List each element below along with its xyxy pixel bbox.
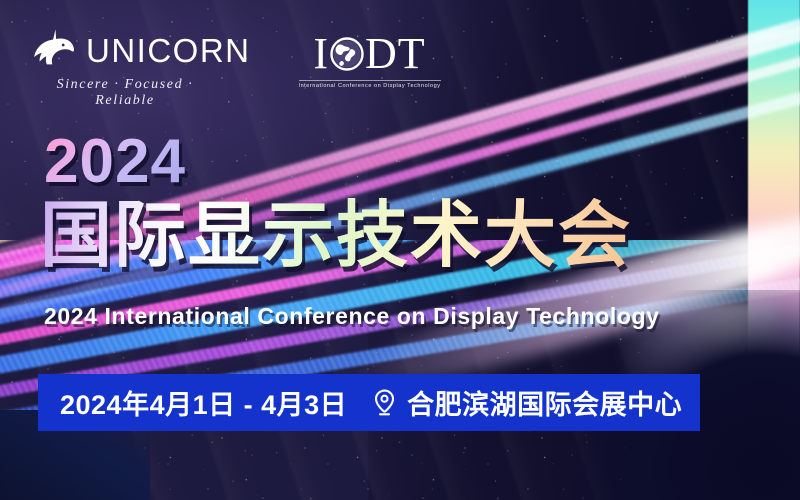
unicorn-tagline: Sincere · Focused · Reliable xyxy=(30,77,220,109)
icdt-subtitle: International Conference on Display Tech… xyxy=(299,80,441,89)
headline-title-chinese: 国际显示技术大会 xyxy=(40,198,632,276)
event-info-bar: 2024年4月1日 - 4月3日 合肥滨湖国际会展中心 xyxy=(38,374,700,431)
location-pin-icon xyxy=(373,389,396,416)
headline-title-english: 2024 International Conference on Display… xyxy=(44,303,660,330)
icdt-logo[interactable]: I DT International Conference on Display… xyxy=(299,28,441,89)
icdt-wordmark: I DT xyxy=(313,32,425,76)
unicorn-wordmark: UNICORN xyxy=(86,34,251,67)
event-venue: 合肥滨湖国际会展中心 xyxy=(407,383,682,422)
event-venue-group: 合肥滨湖国际会展中心 xyxy=(373,383,682,422)
unicorn-logo[interactable]: UNICORN Sincere · Focused · Reliable xyxy=(30,28,251,109)
unicorn-head-icon xyxy=(30,28,78,72)
conference-banner: UNICORN Sincere · Focused · Reliable I D… xyxy=(0,0,800,500)
icdt-letters-dt: DT xyxy=(365,32,426,76)
headline-year: 2024 xyxy=(44,131,186,193)
globe-icon xyxy=(330,37,364,71)
event-date: 2024年4月1日 - 4月3日 xyxy=(60,383,347,422)
logo-row: UNICORN Sincere · Focused · Reliable I D… xyxy=(30,28,441,109)
unicorn-logo-top: UNICORN xyxy=(30,28,251,72)
icdt-letter-i: I xyxy=(313,32,329,76)
